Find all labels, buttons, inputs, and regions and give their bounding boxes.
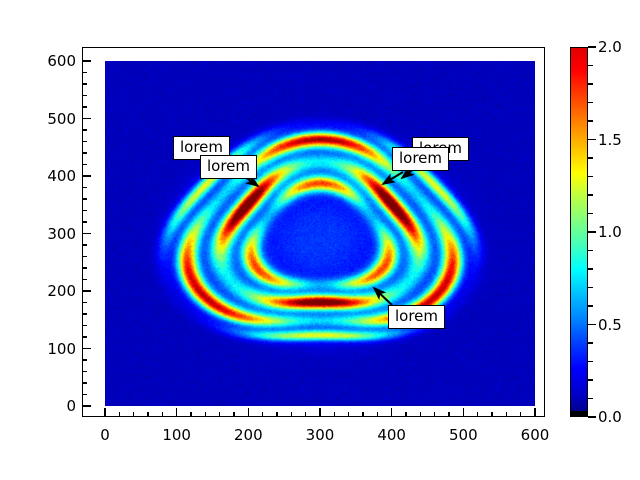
- y-minor-tick: [82, 359, 87, 361]
- x-minor-tick: [219, 412, 221, 417]
- y-minor-tick: [82, 164, 87, 166]
- x-minor-tick: [348, 412, 350, 417]
- y-minor-tick: [82, 187, 87, 189]
- y-major-tick: [82, 175, 91, 177]
- x-major-tick: [319, 408, 321, 417]
- x-minor-tick: [491, 412, 493, 417]
- y-major-tick: [82, 405, 91, 407]
- x-tick-label: 500: [449, 426, 478, 444]
- colorbar-minor-tick: [588, 102, 593, 104]
- x-minor-tick: [477, 412, 479, 417]
- x-tick-label: 200: [234, 426, 263, 444]
- colorbar-minor-tick: [588, 83, 593, 85]
- x-minor-tick: [133, 412, 135, 417]
- y-tick-label: 500: [36, 110, 76, 128]
- y-major-tick: [82, 60, 91, 62]
- y-minor-tick: [82, 302, 87, 304]
- y-minor-tick: [82, 267, 87, 269]
- colorbar-minor-tick: [588, 287, 593, 289]
- x-tick-label: 300: [306, 426, 335, 444]
- x-major-tick: [391, 408, 393, 417]
- x-minor-tick: [147, 412, 149, 417]
- x-minor-tick: [420, 412, 422, 417]
- y-minor-tick: [82, 72, 87, 74]
- colorbar-tick-label: 0.0: [598, 408, 622, 426]
- y-minor-tick: [82, 244, 87, 246]
- colorbar-major-tick: [588, 46, 596, 48]
- colorbar: [570, 47, 588, 417]
- y-minor-tick: [82, 382, 87, 384]
- y-minor-tick: [82, 336, 87, 338]
- colorbar-floor-swatch: [570, 411, 588, 417]
- annotation-callout[interactable]: lorem: [200, 155, 257, 179]
- y-minor-tick: [82, 221, 87, 223]
- colorbar-major-tick: [588, 139, 596, 141]
- colorbar-minor-tick: [588, 65, 593, 67]
- y-minor-tick: [82, 256, 87, 258]
- x-minor-tick: [377, 412, 379, 417]
- y-minor-tick: [82, 198, 87, 200]
- annotation-callout[interactable]: lorem: [388, 305, 445, 329]
- x-minor-tick: [205, 412, 207, 417]
- x-minor-tick: [305, 412, 307, 417]
- colorbar-minor-tick: [588, 157, 593, 159]
- x-tick-label: 0: [100, 426, 110, 444]
- colorbar-minor-tick: [588, 305, 593, 307]
- figure-root: 0100200300400500600 0100200300400500600 …: [0, 0, 640, 480]
- colorbar-minor-tick: [588, 379, 593, 381]
- x-minor-tick: [233, 412, 235, 417]
- colorbar-major-tick: [588, 231, 596, 233]
- x-minor-tick: [119, 412, 121, 417]
- y-minor-tick: [82, 371, 87, 373]
- colorbar-tick-label: 1.0: [598, 223, 622, 241]
- y-tick-label: 400: [36, 167, 76, 185]
- x-tick-label: 400: [377, 426, 406, 444]
- x-minor-tick: [448, 412, 450, 417]
- y-minor-tick: [82, 106, 87, 108]
- y-tick-label: 0: [36, 397, 76, 415]
- y-major-tick: [82, 118, 91, 120]
- colorbar-minor-tick: [588, 213, 593, 215]
- x-major-tick: [534, 408, 536, 417]
- y-major-tick: [82, 233, 91, 235]
- y-minor-tick: [82, 210, 87, 212]
- colorbar-minor-tick: [588, 194, 593, 196]
- x-minor-tick: [362, 412, 364, 417]
- x-tick-label: 600: [521, 426, 550, 444]
- y-tick-label: 600: [36, 52, 76, 70]
- y-minor-tick: [82, 394, 87, 396]
- y-minor-tick: [82, 152, 87, 154]
- x-minor-tick: [262, 412, 264, 417]
- colorbar-minor-tick: [588, 342, 593, 344]
- x-minor-tick: [291, 412, 293, 417]
- colorbar-major-tick: [588, 416, 596, 418]
- y-minor-tick: [82, 83, 87, 85]
- x-minor-tick: [434, 412, 436, 417]
- x-major-tick: [104, 408, 106, 417]
- y-tick-label: 200: [36, 282, 76, 300]
- y-major-tick: [82, 348, 91, 350]
- y-minor-tick: [82, 279, 87, 281]
- x-major-tick: [176, 408, 178, 417]
- colorbar-tick-label: 2.0: [598, 38, 622, 56]
- x-major-tick: [463, 408, 465, 417]
- x-minor-tick: [334, 412, 336, 417]
- x-major-tick: [248, 408, 250, 417]
- x-minor-tick: [506, 412, 508, 417]
- y-minor-tick: [82, 141, 87, 143]
- colorbar-minor-tick: [588, 268, 593, 270]
- x-minor-tick: [162, 412, 164, 417]
- y-minor-tick: [82, 129, 87, 131]
- colorbar-minor-tick: [588, 398, 593, 400]
- x-minor-tick: [405, 412, 407, 417]
- y-tick-label: 100: [36, 340, 76, 358]
- colorbar-major-tick: [588, 324, 596, 326]
- colorbar-minor-tick: [588, 176, 593, 178]
- colorbar-tick-label: 1.5: [598, 131, 622, 149]
- y-minor-tick: [82, 325, 87, 327]
- colorbar-minor-tick: [588, 250, 593, 252]
- heatmap-image: [105, 61, 535, 406]
- x-minor-tick: [276, 412, 278, 417]
- colorbar-tick-label: 0.5: [598, 316, 622, 334]
- y-tick-label: 300: [36, 225, 76, 243]
- x-tick-label: 100: [162, 426, 191, 444]
- x-minor-tick: [190, 412, 192, 417]
- x-minor-tick: [520, 412, 522, 417]
- colorbar-minor-tick: [588, 361, 593, 363]
- annotation-callout[interactable]: lorem: [392, 147, 449, 171]
- colorbar-minor-tick: [588, 120, 593, 122]
- y-minor-tick: [82, 95, 87, 97]
- y-minor-tick: [82, 313, 87, 315]
- y-major-tick: [82, 290, 91, 292]
